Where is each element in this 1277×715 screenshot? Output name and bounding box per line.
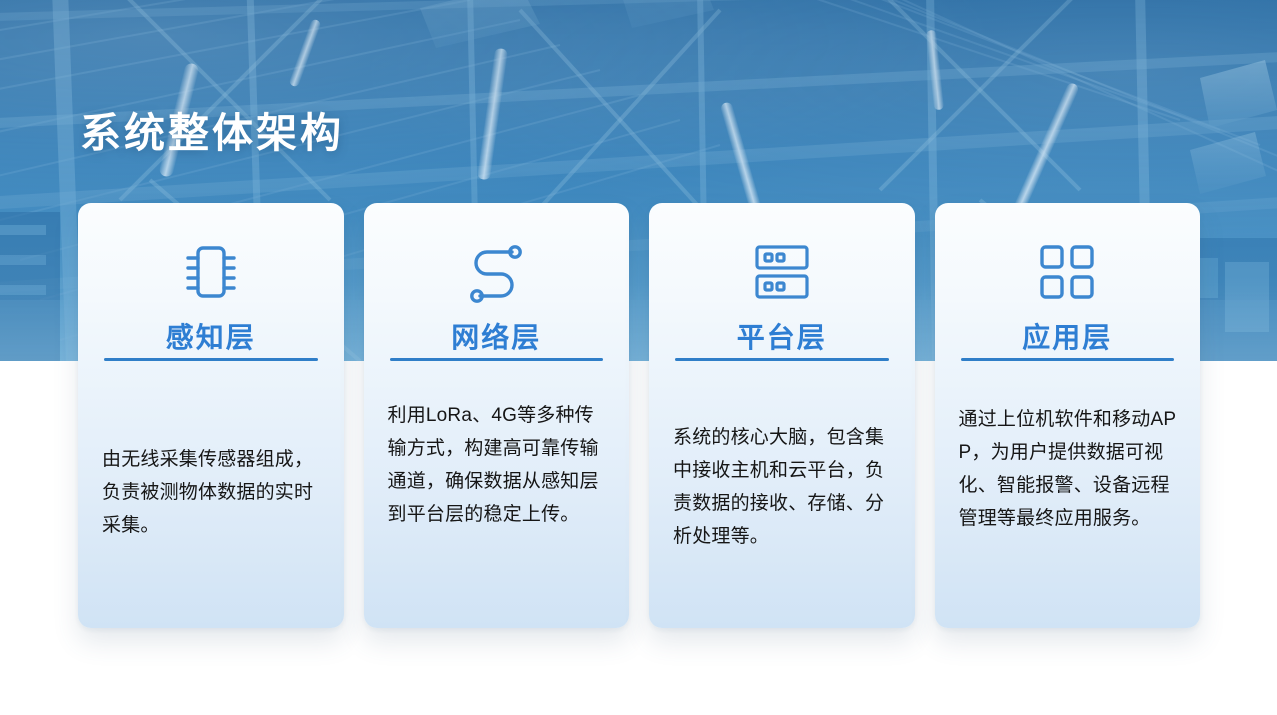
- card-description: 系统的核心大脑，包含集中接收主机和云平台，负责数据的接收、存储、分析处理等。: [673, 421, 895, 553]
- card-divider: [675, 358, 889, 361]
- architecture-card[interactable]: 平台层 系统的核心大脑，包含集中接收主机和云平台，负责数据的接收、存储、分析处理…: [649, 203, 915, 628]
- network-path-icon: [364, 235, 630, 309]
- card-title: 网络层: [364, 321, 630, 355]
- architecture-card-row: 感知层 由无线采集传感器组成，负责被测物体数据的实时采集。 网络层 利用LoRa…: [78, 203, 1200, 629]
- server-rack-icon: [649, 235, 915, 309]
- card-body: 应用层 通过上位机软件和移动APP，为用户提供数据可视化、智能报警、设备远程管理…: [935, 203, 1201, 628]
- architecture-card[interactable]: 感知层 由无线采集传感器组成，负责被测物体数据的实时采集。: [78, 203, 344, 628]
- card-divider: [390, 358, 604, 361]
- card-description: 利用LoRa、4G等多种传输方式，构建高可靠传输通道，确保数据从感知层到平台层的…: [388, 399, 610, 531]
- slide-canvas: 系统整体架构 感知层: [0, 0, 1277, 715]
- card-body: 网络层 利用LoRa、4G等多种传输方式，构建高可靠传输通道，确保数据从感知层到…: [364, 203, 630, 628]
- app-grid-icon: [935, 235, 1201, 309]
- card-title: 应用层: [935, 321, 1201, 355]
- card-body: 感知层 由无线采集传感器组成，负责被测物体数据的实时采集。: [78, 203, 344, 628]
- card-title: 平台层: [649, 321, 915, 355]
- card-description: 通过上位机软件和移动APP，为用户提供数据可视化、智能报警、设备远程管理等最终应…: [959, 403, 1181, 535]
- card-divider: [961, 358, 1175, 361]
- page-title: 系统整体架构: [80, 110, 344, 157]
- architecture-card[interactable]: 应用层 通过上位机软件和移动APP，为用户提供数据可视化、智能报警、设备远程管理…: [935, 203, 1201, 628]
- card-description: 由无线采集传感器组成，负责被测物体数据的实时采集。: [102, 443, 324, 542]
- card-divider: [104, 358, 318, 361]
- architecture-card[interactable]: 网络层 利用LoRa、4G等多种传输方式，构建高可靠传输通道，确保数据从感知层到…: [364, 203, 630, 628]
- card-body: 平台层 系统的核心大脑，包含集中接收主机和云平台，负责数据的接收、存储、分析处理…: [649, 203, 915, 628]
- chip-icon: [78, 235, 344, 309]
- card-title: 感知层: [78, 321, 344, 355]
